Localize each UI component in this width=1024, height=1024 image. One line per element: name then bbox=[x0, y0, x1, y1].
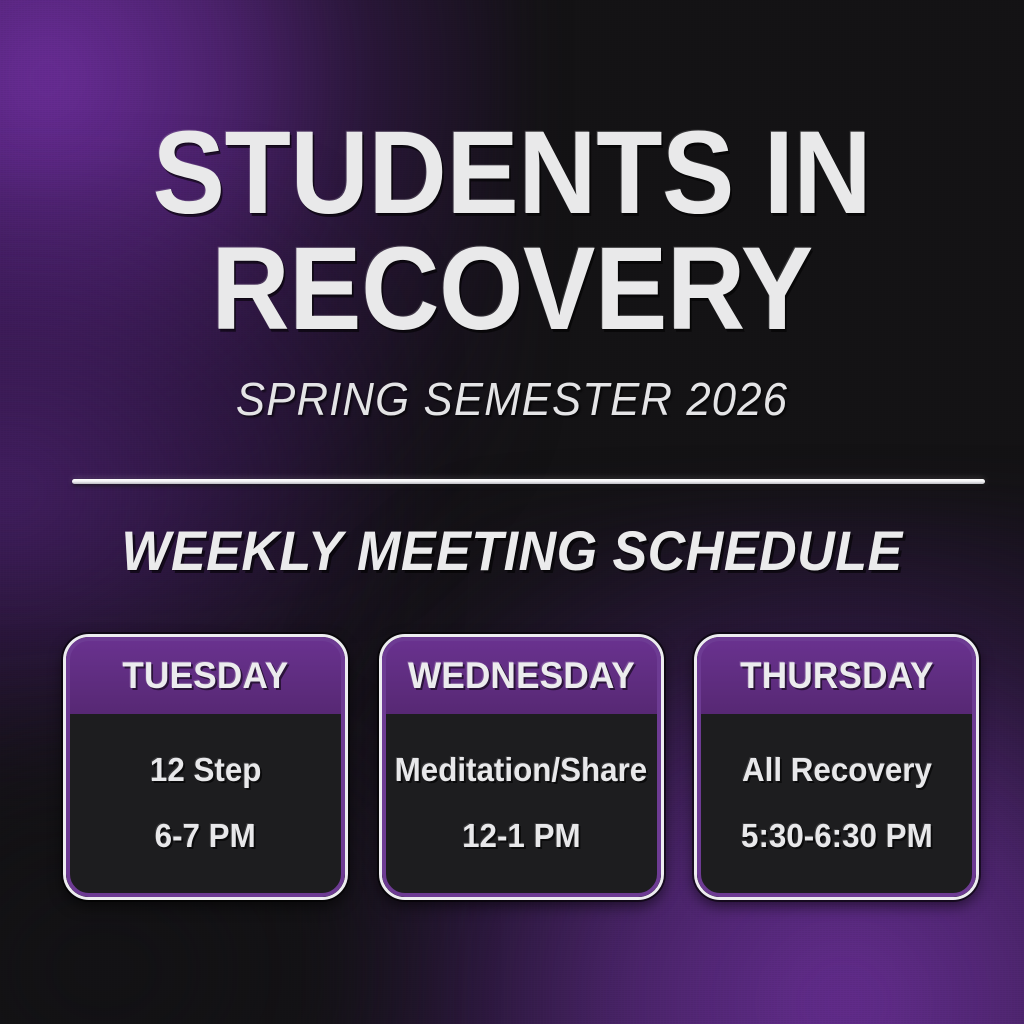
poster-content: STUDENTS IN RECOVERY SPRING SEMESTER 202… bbox=[0, 0, 1024, 1024]
schedule-card-list: TUESDAY 12 Step 6-7 PM WEDNESDAY Meditat… bbox=[63, 634, 979, 900]
card-header-thursday: THURSDAY bbox=[697, 637, 976, 714]
card-activity-label: 12 Step bbox=[150, 751, 262, 789]
schedule-card-thursday: THURSDAY All Recovery 5:30-6:30 PM bbox=[694, 634, 979, 900]
card-day-label: THURSDAY bbox=[740, 655, 934, 697]
card-header-tuesday: TUESDAY bbox=[66, 637, 345, 714]
page-title: STUDENTS IN RECOVERY bbox=[0, 116, 1024, 347]
title-line-2: RECOVERY bbox=[41, 232, 983, 348]
card-time-label: 12-1 PM bbox=[462, 817, 580, 855]
card-body-wednesday: Meditation/Share 12-1 PM bbox=[382, 714, 661, 897]
card-body-tuesday: 12 Step 6-7 PM bbox=[66, 714, 345, 897]
card-activity-label: Meditation/Share bbox=[395, 751, 648, 789]
poster-subtitle: SPRING SEMESTER 2026 bbox=[26, 372, 999, 426]
card-body-thursday: All Recovery 5:30-6:30 PM bbox=[697, 714, 976, 897]
card-day-label: TUESDAY bbox=[122, 655, 288, 697]
card-header-wednesday: WEDNESDAY bbox=[382, 637, 661, 714]
section-heading: WEEKLY MEETING SCHEDULE bbox=[36, 518, 988, 583]
schedule-card-wednesday: WEDNESDAY Meditation/Share 12-1 PM bbox=[379, 634, 664, 900]
card-time-label: 6-7 PM bbox=[155, 817, 256, 855]
card-day-label: WEDNESDAY bbox=[408, 655, 635, 697]
card-activity-label: All Recovery bbox=[742, 751, 932, 789]
title-line-1: STUDENTS IN bbox=[41, 116, 983, 232]
divider bbox=[72, 479, 985, 484]
recovery-schedule-poster: STUDENTS IN RECOVERY SPRING SEMESTER 202… bbox=[0, 0, 1024, 1024]
card-time-label: 5:30-6:30 PM bbox=[741, 817, 933, 855]
schedule-card-tuesday: TUESDAY 12 Step 6-7 PM bbox=[63, 634, 348, 900]
